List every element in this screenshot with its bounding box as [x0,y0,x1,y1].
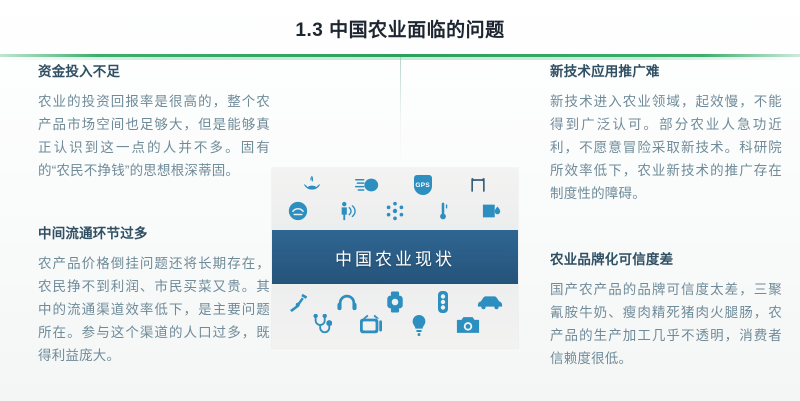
right-column-spacer [550,217,782,250]
center-connector-line [400,57,401,165]
car-icon [466,290,514,314]
traffic-light-icon [419,290,467,314]
right-block-2-heading: 农业品牌化可信度差 [550,250,782,269]
camera-icon [444,314,493,336]
left-block-1-heading: 资金投入不足 [38,62,270,81]
figure-icon-row-3 [272,290,518,314]
gps-badge-label: GPS [414,175,432,195]
page-title-wrapper: 1.3 中国农业面临的问题 [0,18,800,44]
center-figure: GPS [272,168,518,348]
left-block-1-body: 农业的投资回报率是很高的，整个农产品市场空间也足够大，但是能够真正认识到这一点的… [38,90,270,182]
figure-band: 中国农业现状 [272,230,518,284]
left-block-2-heading: 中间流通环节过多 [38,224,270,243]
right-column: 新技术应用推广难 新技术进入农业领域，起效慢，不能得到广泛认可。部分农业人急功近… [550,62,782,382]
left-block-2-body: 农产品价格倒挂问题还将长期存在，农民挣不到利润、市民买菜又贵。其中的流通渠道效率… [38,252,270,367]
goalpost-icon [451,174,507,196]
slide-root: 1.3 中国农业面临的问题 资金投入不足 农业的投资回报率是很高的，整个农产品市… [0,0,800,401]
robot-arm-icon [276,290,324,314]
headphones-icon [324,290,372,314]
page-title: 1.3 中国农业面临的问题 [295,18,504,44]
thermometer-icon [419,200,467,222]
figure-band-label: 中国农业现状 [335,245,455,270]
left-column-spacer [38,194,270,224]
figure-icon-row-2 [272,200,518,222]
right-block-1-body: 新技术进入农业领域，起效慢，不能得到广泛认可。部分农业人急功近利，不愿意冒险采取… [550,90,782,205]
gps-badge-icon: GPS [395,174,451,196]
person-signal-icon [322,200,370,222]
television-icon [347,314,396,336]
plant-in-hands-icon [284,174,340,196]
network-nodes-icon [371,200,419,222]
smartwatch-icon [371,290,419,314]
right-block-2: 农业品牌化可信度差 国产农产品的品牌可信度太差，三聚氰胺牛奶、瘦肉精死猪肉火腿肠… [550,250,782,370]
figure-icon-row-1: GPS [272,174,518,196]
figure-icon-row-4 [272,314,518,336]
right-block-2-body: 国产农产品的品牌可信度太差，三聚氰胺牛奶、瘦肉精死猪肉火腿肠，农产品的生产加工几… [550,278,782,370]
left-block-2: 中间流通环节过多 农产品价格倒挂问题还将长期存在，农民挣不到利润、市民买菜又贵。… [38,224,270,367]
stethoscope-icon [298,314,347,336]
speed-gauge-icon [274,200,322,222]
right-block-1: 新技术应用推广难 新技术进入农业领域，起效慢，不能得到广泛认可。部分农业人急功近… [550,62,782,205]
left-column: 资金投入不足 农业的投资回报率是很高的，整个农产品市场空间也足够大，但是能够真正… [38,62,270,379]
fuel-drop-icon [468,200,516,222]
lightbulb-pin-icon [395,314,444,336]
right-block-1-heading: 新技术应用推广难 [550,62,782,81]
headlight-beam-icon [340,174,396,196]
left-block-1: 资金投入不足 农业的投资回报率是很高的，整个农产品市场空间也足够大，但是能够真正… [38,62,270,182]
